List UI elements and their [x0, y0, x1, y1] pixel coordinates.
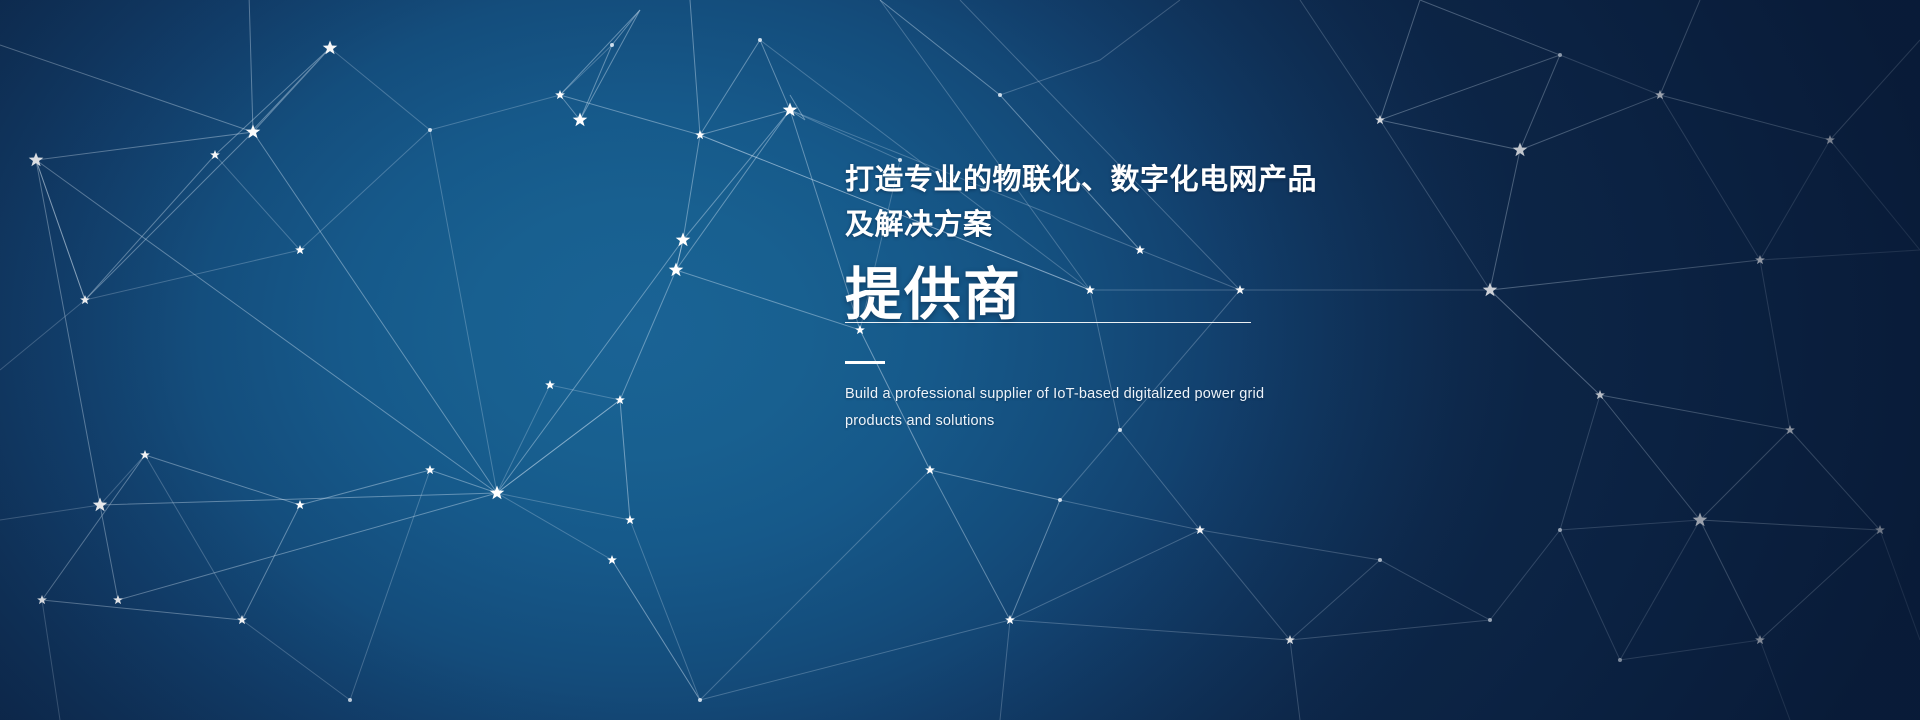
divider-rule — [845, 322, 1251, 323]
accent-rule — [845, 361, 885, 364]
headline-line-1: 打造专业的物联化、数字化电网产品 — [845, 158, 1605, 203]
hero-text-block: 打造专业的物联化、数字化电网产品 及解决方案 提供商 Build a profe… — [845, 158, 1605, 435]
hero-banner: .ln { stroke: rgba(215,232,248,0.40); st… — [0, 0, 1920, 720]
subtitle-block: Build a professional supplier of IoT-bas… — [845, 381, 1605, 435]
headline-line-2: 及解决方案 — [845, 203, 1605, 248]
headline-emphasis: 提供商 — [845, 262, 1605, 328]
subtitle-line-1: Build a professional supplier of IoT-bas… — [845, 381, 1605, 408]
subtitle-line-2: products and solutions — [845, 408, 1605, 435]
